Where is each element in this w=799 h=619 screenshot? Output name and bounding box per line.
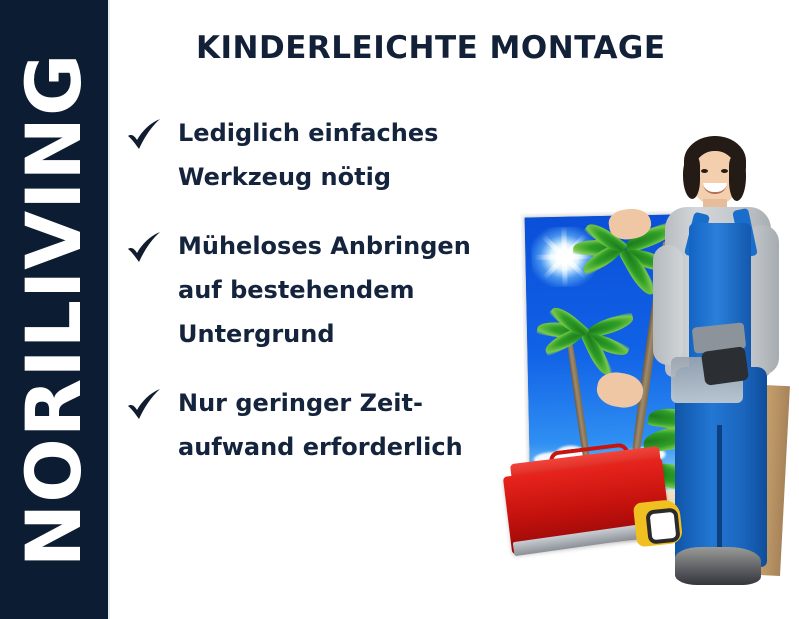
arm-left <box>653 245 683 365</box>
check-icon <box>126 388 164 422</box>
page-title: KINDERLEICHTE MONTAGE <box>196 30 666 66</box>
hair-side <box>729 157 746 201</box>
list-item-line: Lediglich einfaches <box>178 112 516 156</box>
brand-band-edge <box>108 0 110 619</box>
sun-icon <box>531 226 598 287</box>
product-photo <box>495 95 799 619</box>
list-item-line: Untergrund <box>178 313 516 357</box>
hair-side <box>683 157 700 199</box>
check-icon <box>126 118 164 152</box>
brand-name: NORILIVING <box>16 52 92 567</box>
cordless-drill <box>701 346 749 386</box>
pant-seam <box>717 425 722 565</box>
work-shoe <box>675 547 761 585</box>
poster: NORILIVING KINDERLEICHTE MONTAGE Ledigli… <box>0 0 799 619</box>
list-item-text: Lediglich einfaches Werkzeug nötig <box>178 112 516 199</box>
list-item: Lediglich einfaches Werkzeug nötig <box>126 112 516 199</box>
list-item: Müheloses Anbringen auf bestehendem Unte… <box>126 225 516 356</box>
list-item-text: Müheloses Anbringen auf bestehendem Unte… <box>178 225 516 356</box>
list-item-line: Nur geringer Zeit- <box>178 382 516 426</box>
eye <box>701 169 708 173</box>
benefits-list: Lediglich einfaches Werkzeug nötig Mühel… <box>126 112 516 470</box>
saw-grip <box>645 507 680 544</box>
eye <box>721 169 728 173</box>
list-item: Nur geringer Zeit- aufwand erforderlich <box>126 382 516 469</box>
list-item-line: Müheloses Anbringen <box>178 225 516 269</box>
list-item-text: Nur geringer Zeit- aufwand erforderlich <box>178 382 516 469</box>
brand-band: NORILIVING <box>0 0 108 619</box>
list-item-line: auf bestehendem <box>178 269 516 313</box>
list-item-line: Werkzeug nötig <box>178 156 516 200</box>
check-icon <box>126 231 164 265</box>
list-item-line: aufwand erforderlich <box>178 426 516 470</box>
